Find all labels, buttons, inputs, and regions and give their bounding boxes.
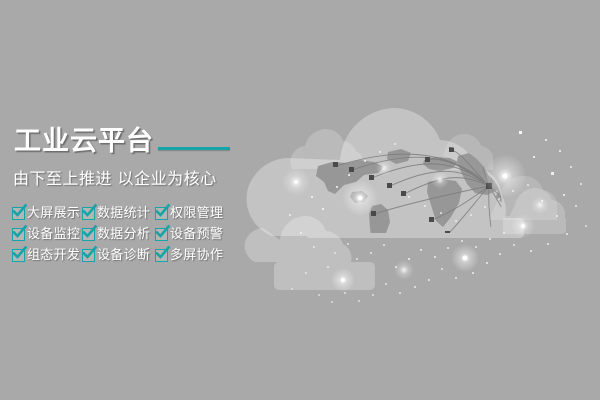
feature-item[interactable]: 大屏展示 [12, 206, 82, 221]
feature-label: 权限管理 [170, 206, 223, 221]
feature-item[interactable]: 数据分析 [82, 227, 155, 242]
feature-label: 数据统计 [97, 206, 150, 221]
feature-label: 大屏展示 [27, 206, 80, 221]
world-map [316, 149, 534, 246]
title-accent-rule [158, 147, 230, 150]
check-mark-icon [12, 228, 25, 241]
feature-item[interactable]: 组态开发 [12, 248, 82, 263]
check-mark-icon [12, 249, 25, 262]
feature-item[interactable]: 权限管理 [155, 206, 228, 221]
feature-label: 设备诊断 [97, 248, 150, 263]
check-mark-icon [155, 228, 168, 241]
check-mark-icon [82, 249, 95, 262]
cloud-shape [290, 129, 362, 169]
location-marker [333, 143, 526, 236]
feature-item[interactable]: 设备预警 [155, 227, 228, 242]
feature-label: 组态开发 [27, 248, 80, 263]
title-row: 工业云平台 [14, 126, 230, 158]
sparkle-particle [289, 131, 587, 303]
feature-row: 组态开发 设备诊断 多屏协作 [12, 245, 262, 266]
banner-content: 工业云平台 由下至上推进 以企业为核心 大屏展示 数据统计 [0, 0, 280, 400]
check-mark-icon [155, 249, 168, 262]
feature-item[interactable]: 数据统计 [82, 206, 155, 221]
check-mark-icon [82, 228, 95, 241]
cloud-shape [247, 108, 524, 238]
promo-banner: 工业云平台 由下至上推进 以企业为核心 大屏展示 数据统计 [0, 0, 600, 400]
feature-item[interactable]: 多屏协作 [155, 248, 228, 263]
feature-label: 多屏协作 [170, 248, 223, 263]
network-arc-lines [336, 146, 524, 234]
check-mark-icon [82, 207, 95, 220]
feature-item[interactable]: 设备诊断 [82, 248, 155, 263]
page-title: 工业云平台 [14, 126, 154, 158]
glow-dot [282, 154, 549, 292]
check-mark-icon [155, 207, 168, 220]
feature-row: 设备监控 数据分析 设备预警 [12, 224, 262, 245]
feature-label: 数据分析 [97, 227, 150, 242]
feature-row: 大屏展示 数据统计 权限管理 [12, 203, 262, 224]
feature-label: 设备预警 [170, 227, 223, 242]
check-mark-icon [12, 207, 25, 220]
subtitle: 由下至上推进 以企业为核心 [13, 168, 217, 190]
feature-item[interactable]: 设备监控 [12, 227, 82, 242]
feature-label: 设备监控 [27, 227, 80, 242]
cloud-shape [437, 134, 493, 170]
cloud-shape [503, 188, 566, 234]
cloud-shape [489, 176, 557, 220]
feature-list: 大屏展示 数据统计 权限管理 [12, 203, 262, 266]
